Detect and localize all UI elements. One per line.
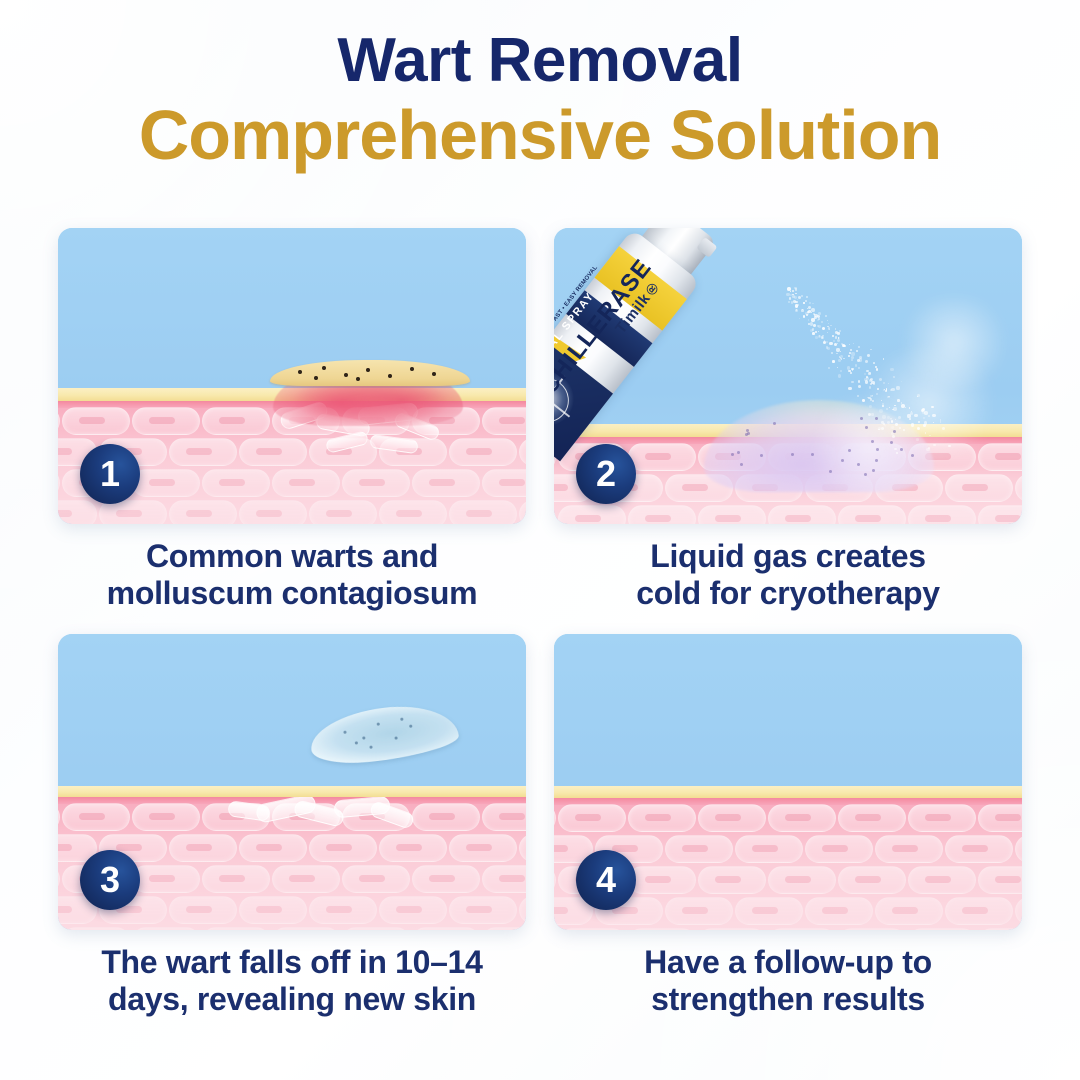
cell-nucleus <box>186 844 212 851</box>
frozen-speck <box>811 453 814 456</box>
cell-nucleus <box>499 875 525 882</box>
skin-cell <box>482 865 526 893</box>
skin-cell <box>239 438 307 466</box>
skin-cell <box>519 438 526 466</box>
skin-cell <box>698 804 766 832</box>
skin-cell <box>945 835 1013 863</box>
skin-cell <box>169 834 237 862</box>
skin-cell <box>1015 897 1022 925</box>
skin-cell <box>412 927 480 930</box>
step-caption-4: Have a follow-up to strengthen results <box>554 944 1022 1018</box>
cell-nucleus <box>892 907 918 914</box>
spray-particle <box>852 369 853 370</box>
title-line-1: Wart Removal <box>0 30 1080 92</box>
spray-particle <box>817 325 819 327</box>
flake-speck <box>362 737 365 740</box>
frozen-speck <box>890 441 893 444</box>
spray-particle <box>812 303 814 305</box>
skin-cell <box>58 407 60 435</box>
spray-particle <box>808 323 810 325</box>
skin-cell <box>978 928 1022 930</box>
step-card-2: Timilk® CHILLERASE BUMP RENEWAL SPRAY PR… <box>554 228 1022 612</box>
spray-particle <box>851 352 854 355</box>
flake-speck <box>369 746 372 749</box>
spray-particle <box>838 374 842 378</box>
cell-nucleus <box>429 813 455 820</box>
skin-cell <box>412 803 480 831</box>
step-number-badge-4: 4 <box>576 850 636 910</box>
skin-cell <box>132 865 200 893</box>
spray-particle <box>849 352 851 354</box>
skin-cell <box>309 896 377 924</box>
cell-nucleus <box>995 876 1021 883</box>
cell-nucleus <box>925 814 951 821</box>
skin-cell <box>665 897 733 925</box>
cell-nucleus <box>149 813 175 820</box>
cell-nucleus <box>785 814 811 821</box>
skin-cell <box>519 896 526 924</box>
spray-particle <box>858 346 859 347</box>
step-number-badge-1: 1 <box>80 444 140 504</box>
wart-speck <box>298 370 302 374</box>
skin-cell <box>58 927 60 930</box>
skin-cell <box>58 865 60 893</box>
wart-speck <box>432 372 436 376</box>
skin-cell <box>519 500 526 524</box>
skin-cell <box>272 469 340 497</box>
cell-nucleus <box>396 906 422 913</box>
cell-nucleus <box>499 479 525 486</box>
cell-nucleus <box>752 907 778 914</box>
skin-cell <box>554 804 556 832</box>
cell-nucleus <box>785 876 811 883</box>
step-card-4: 4 Have a follow-up to strengthen results <box>554 634 1022 1018</box>
cell-nucleus <box>645 876 671 883</box>
cell-nucleus <box>256 906 282 913</box>
spray-particle <box>790 294 792 296</box>
skin-cell <box>838 505 906 524</box>
frozen-speck <box>791 453 794 456</box>
cell-nucleus <box>289 875 315 882</box>
cell-nucleus <box>219 875 245 882</box>
skin-cell <box>838 866 906 894</box>
flake-speck <box>400 718 403 721</box>
cell-nucleus <box>186 906 212 913</box>
skin-cell <box>768 928 836 930</box>
cell-nucleus <box>359 479 385 486</box>
frozen-speck <box>875 459 878 462</box>
skin-cell <box>945 897 1013 925</box>
cell-nucleus <box>575 814 601 821</box>
cell-nucleus <box>785 515 811 522</box>
cell-nucleus <box>149 875 175 882</box>
skin-cell <box>768 866 836 894</box>
skin-cell <box>239 500 307 524</box>
cell-nucleus <box>186 448 212 455</box>
skin-cell <box>202 469 270 497</box>
cell-nucleus <box>995 515 1021 522</box>
skin-cell <box>908 928 976 930</box>
flake-speck <box>343 731 346 734</box>
cell-nucleus <box>79 417 105 424</box>
skin-cell <box>412 865 480 893</box>
skin-cell <box>838 928 906 930</box>
skin-cell <box>132 469 200 497</box>
skin-cell <box>665 835 733 863</box>
cell-nucleus <box>326 510 352 517</box>
skin-cell <box>449 896 517 924</box>
skin-cell <box>449 438 517 466</box>
wart-speck <box>366 368 370 372</box>
spray-particle <box>826 341 828 343</box>
skin-cell <box>62 407 130 435</box>
step-number-badge-3: 3 <box>80 850 140 910</box>
frozen-speck <box>875 417 878 420</box>
cell-nucleus <box>58 448 72 455</box>
step-card-3: 3 The wart falls off in 10–14 days, reve… <box>58 634 526 1018</box>
skin-cell <box>62 803 130 831</box>
skin-cell <box>1015 474 1022 502</box>
skin-cell <box>978 505 1022 524</box>
skin-cell <box>342 469 410 497</box>
cell-nucleus <box>116 844 142 851</box>
skin-cell <box>978 804 1022 832</box>
cell-nucleus <box>575 515 601 522</box>
cell-nucleus <box>58 906 72 913</box>
cell-nucleus <box>554 907 568 914</box>
skin-cell <box>978 866 1022 894</box>
wart-speck <box>410 367 414 371</box>
skin-cell <box>554 505 556 524</box>
spray-particle <box>833 340 835 342</box>
spray-particle <box>851 381 854 384</box>
spray-particle <box>858 367 859 368</box>
title-line-2: Comprehensive Solution <box>0 100 1080 170</box>
cell-nucleus <box>359 875 385 882</box>
skin-cell <box>768 804 836 832</box>
epidermis-layer-4 <box>554 786 1022 798</box>
skin-cell <box>58 469 60 497</box>
spray-particle <box>811 308 815 312</box>
skin-cell <box>945 474 1013 502</box>
skin-cell <box>698 505 766 524</box>
skin-cell <box>805 897 873 925</box>
cell-nucleus <box>682 907 708 914</box>
flake-speck <box>394 737 397 740</box>
skin-cell <box>838 804 906 832</box>
skin-cell <box>558 928 626 930</box>
step-card-1: 1 Common warts and molluscum contagiosum <box>58 228 526 612</box>
step-illustration-3: 3 <box>58 634 526 930</box>
skin-cell <box>875 897 943 925</box>
frozen-speck <box>860 417 863 420</box>
cell-nucleus <box>822 845 848 852</box>
spray-particle <box>801 309 804 312</box>
frozen-speck <box>871 440 874 443</box>
flake-speck <box>377 723 380 726</box>
skin-cell <box>735 897 803 925</box>
skin-cell <box>449 500 517 524</box>
skin-cell <box>805 835 873 863</box>
skin-cell <box>412 469 480 497</box>
cell-nucleus <box>396 510 422 517</box>
spray-particle <box>803 315 805 317</box>
cell-nucleus <box>682 484 708 491</box>
step-illustration-4: 4 <box>554 634 1022 930</box>
cell-nucleus <box>995 453 1021 460</box>
skin-cell <box>482 803 526 831</box>
skin-cell <box>132 927 200 930</box>
spray-particle <box>836 348 839 351</box>
cell-nucleus <box>499 813 525 820</box>
cell-nucleus <box>116 510 142 517</box>
skin-cell <box>628 928 696 930</box>
spray-particle <box>793 300 796 303</box>
spray-particle <box>821 336 823 338</box>
cell-nucleus <box>256 510 282 517</box>
spray-particle <box>796 306 798 308</box>
skin-cell <box>698 928 766 930</box>
cell-nucleus <box>499 417 525 424</box>
flake-speck <box>409 725 412 728</box>
cell-nucleus <box>962 484 988 491</box>
spray-particle <box>801 295 803 297</box>
cell-nucleus <box>186 510 212 517</box>
cell-nucleus <box>855 814 881 821</box>
frozen-speck <box>876 448 879 451</box>
cell-nucleus <box>822 907 848 914</box>
cell-nucleus <box>149 479 175 486</box>
skin-cell <box>908 866 976 894</box>
cell-nucleus <box>149 417 175 424</box>
skin-cell <box>379 834 447 862</box>
spray-particle <box>840 351 841 352</box>
skin-cell <box>272 927 340 930</box>
cell-nucleus <box>682 845 708 852</box>
skin-cell <box>169 500 237 524</box>
cell-nucleus <box>645 814 671 821</box>
cold-mist-cloud <box>894 298 1014 388</box>
step-caption-3: The wart falls off in 10–14 days, reveal… <box>58 944 526 1018</box>
cell-nucleus <box>466 510 492 517</box>
frozen-speck <box>740 463 743 466</box>
wart-speck <box>344 373 348 377</box>
skin-cell <box>379 896 447 924</box>
skin-cell <box>735 835 803 863</box>
cell-nucleus <box>466 448 492 455</box>
skin-cell <box>698 866 766 894</box>
skin-cell <box>628 804 696 832</box>
cell-nucleus <box>892 845 918 852</box>
skin-cell <box>309 500 377 524</box>
cell-nucleus <box>855 515 881 522</box>
cell-nucleus <box>219 417 245 424</box>
skin-cell <box>628 866 696 894</box>
cell-nucleus <box>995 814 1021 821</box>
spray-particle <box>803 302 804 303</box>
spray-particle <box>787 287 791 291</box>
skin-cell <box>342 865 410 893</box>
skin-cell <box>875 835 943 863</box>
cell-nucleus <box>752 845 778 852</box>
frozen-speck <box>731 453 734 456</box>
step-caption-2: Liquid gas creates cold for cryotherapy <box>554 538 1022 612</box>
skin-cell <box>554 866 556 894</box>
step-number-badge-2: 2 <box>576 444 636 504</box>
skin-cell <box>132 407 200 435</box>
spray-particle <box>835 336 837 338</box>
cell-nucleus <box>289 479 315 486</box>
cell-nucleus <box>466 906 492 913</box>
frozen-speck <box>760 454 763 457</box>
skin-cell <box>272 865 340 893</box>
skin-cell <box>169 896 237 924</box>
spray-particle <box>805 300 807 302</box>
page-title: Wart Removal Comprehensive Solution <box>0 30 1080 170</box>
flake-speck <box>355 741 358 744</box>
wart-speck <box>388 374 392 378</box>
frozen-speck <box>872 469 875 472</box>
skin-cell <box>132 803 200 831</box>
spray-particle <box>834 343 837 346</box>
skin-cell <box>1015 835 1022 863</box>
frozen-speck <box>864 473 867 476</box>
skin-cell <box>309 834 377 862</box>
cell-nucleus <box>925 876 951 883</box>
skin-cell <box>908 505 976 524</box>
cell-nucleus <box>429 875 455 882</box>
cell-nucleus <box>554 845 568 852</box>
skin-cell <box>202 865 270 893</box>
skin-cell <box>58 803 60 831</box>
cell-nucleus <box>554 484 568 491</box>
skin-cell <box>449 834 517 862</box>
spray-particle <box>827 347 830 350</box>
spray-particle <box>817 319 819 321</box>
cell-nucleus <box>396 844 422 851</box>
skin-cell <box>239 834 307 862</box>
skin-cell <box>482 407 526 435</box>
wart-speck <box>314 376 318 380</box>
spray-particle <box>873 362 875 364</box>
cell-nucleus <box>58 510 72 517</box>
skin-cell <box>558 804 626 832</box>
cell-nucleus <box>715 814 741 821</box>
wart-speck <box>322 366 326 370</box>
step-caption-1: Common warts and molluscum contagiosum <box>58 538 526 612</box>
spray-particle <box>847 366 850 369</box>
skin-cell <box>58 500 97 524</box>
spray-particle <box>815 331 817 333</box>
skin-cell <box>482 927 526 930</box>
cell-nucleus <box>219 479 245 486</box>
spray-particle <box>802 309 803 310</box>
step-illustration-1: 1 <box>58 228 526 524</box>
spray-particle <box>857 359 860 362</box>
infographic-stage: Wart Removal Comprehensive Solution 1 Co… <box>0 0 1080 1080</box>
steps-grid: 1 Common warts and molluscum contagiosum <box>58 228 1022 1018</box>
skin-cell <box>169 438 237 466</box>
cell-nucleus <box>326 906 352 913</box>
cell-nucleus <box>429 479 455 486</box>
cell-nucleus <box>326 844 352 851</box>
cell-nucleus <box>962 845 988 852</box>
skin-cell <box>62 927 130 930</box>
cell-nucleus <box>715 876 741 883</box>
skin-cell <box>482 469 526 497</box>
skin-cell <box>768 505 836 524</box>
spray-particle <box>790 291 791 292</box>
cell-nucleus <box>855 876 881 883</box>
skin-cell <box>239 896 307 924</box>
wart-speck <box>356 377 360 381</box>
skin-cell <box>379 500 447 524</box>
cell-nucleus <box>715 515 741 522</box>
skin-cell <box>554 928 556 930</box>
skin-cell <box>908 804 976 832</box>
spray-particle <box>839 330 841 332</box>
cell-nucleus <box>256 448 282 455</box>
cell-nucleus <box>962 907 988 914</box>
spray-particle <box>835 328 836 329</box>
spray-particle <box>841 358 842 359</box>
frozen-speck <box>900 448 903 451</box>
skin-cell <box>519 834 526 862</box>
step-illustration-2: Timilk® CHILLERASE BUMP RENEWAL SPRAY PR… <box>554 228 1022 524</box>
cell-nucleus <box>256 844 282 851</box>
skin-cell <box>202 407 270 435</box>
cell-nucleus <box>79 813 105 820</box>
cell-nucleus <box>58 844 72 851</box>
spray-particle <box>851 359 853 361</box>
spray-particle <box>840 370 841 371</box>
skin-cell <box>342 927 410 930</box>
spray-particle <box>855 364 857 366</box>
skin-cell <box>202 927 270 930</box>
cell-nucleus <box>466 844 492 851</box>
spray-particle <box>813 324 816 327</box>
spray-particle <box>822 335 823 336</box>
cell-nucleus <box>925 515 951 522</box>
spray-particle <box>828 327 830 329</box>
skin-cell <box>978 443 1022 471</box>
spray-particle <box>848 387 851 390</box>
cold-mist-cloud <box>804 398 934 498</box>
epidermis-layer-3 <box>58 786 526 797</box>
